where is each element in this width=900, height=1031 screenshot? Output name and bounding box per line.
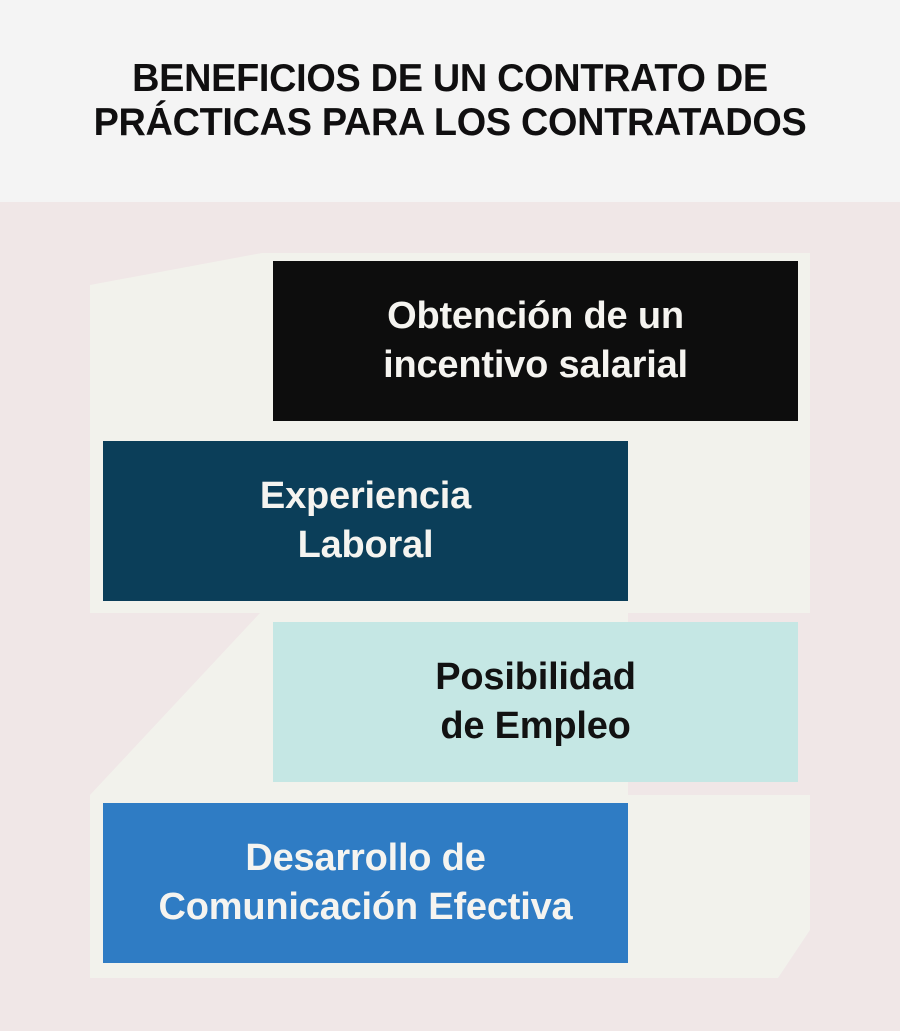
benefit-card-4[interactable]: Desarrollo de Comunicación Efectiva <box>103 803 628 963</box>
benefit-card-2-label: Experiencia Laboral <box>260 472 471 569</box>
benefit-card-3-label: Posibilidad de Empleo <box>435 653 636 750</box>
benefit-card-1[interactable]: Obtención de un incentivo salarial <box>273 261 798 421</box>
benefit-card-1-label: Obtención de un incentivo salarial <box>383 292 688 389</box>
benefit-card-2[interactable]: Experiencia Laboral <box>103 441 628 601</box>
header-banner: BENEFICIOS DE UN CONTRATO DE PRÁCTICAS P… <box>0 0 900 202</box>
page-title: BENEFICIOS DE UN CONTRATO DE PRÁCTICAS P… <box>14 57 887 146</box>
benefit-card-4-label: Desarrollo de Comunicación Efectiva <box>159 834 573 931</box>
benefit-card-3[interactable]: Posibilidad de Empleo <box>273 622 798 782</box>
benefits-diagram: Obtención de un incentivo salarial Exper… <box>0 202 900 1031</box>
